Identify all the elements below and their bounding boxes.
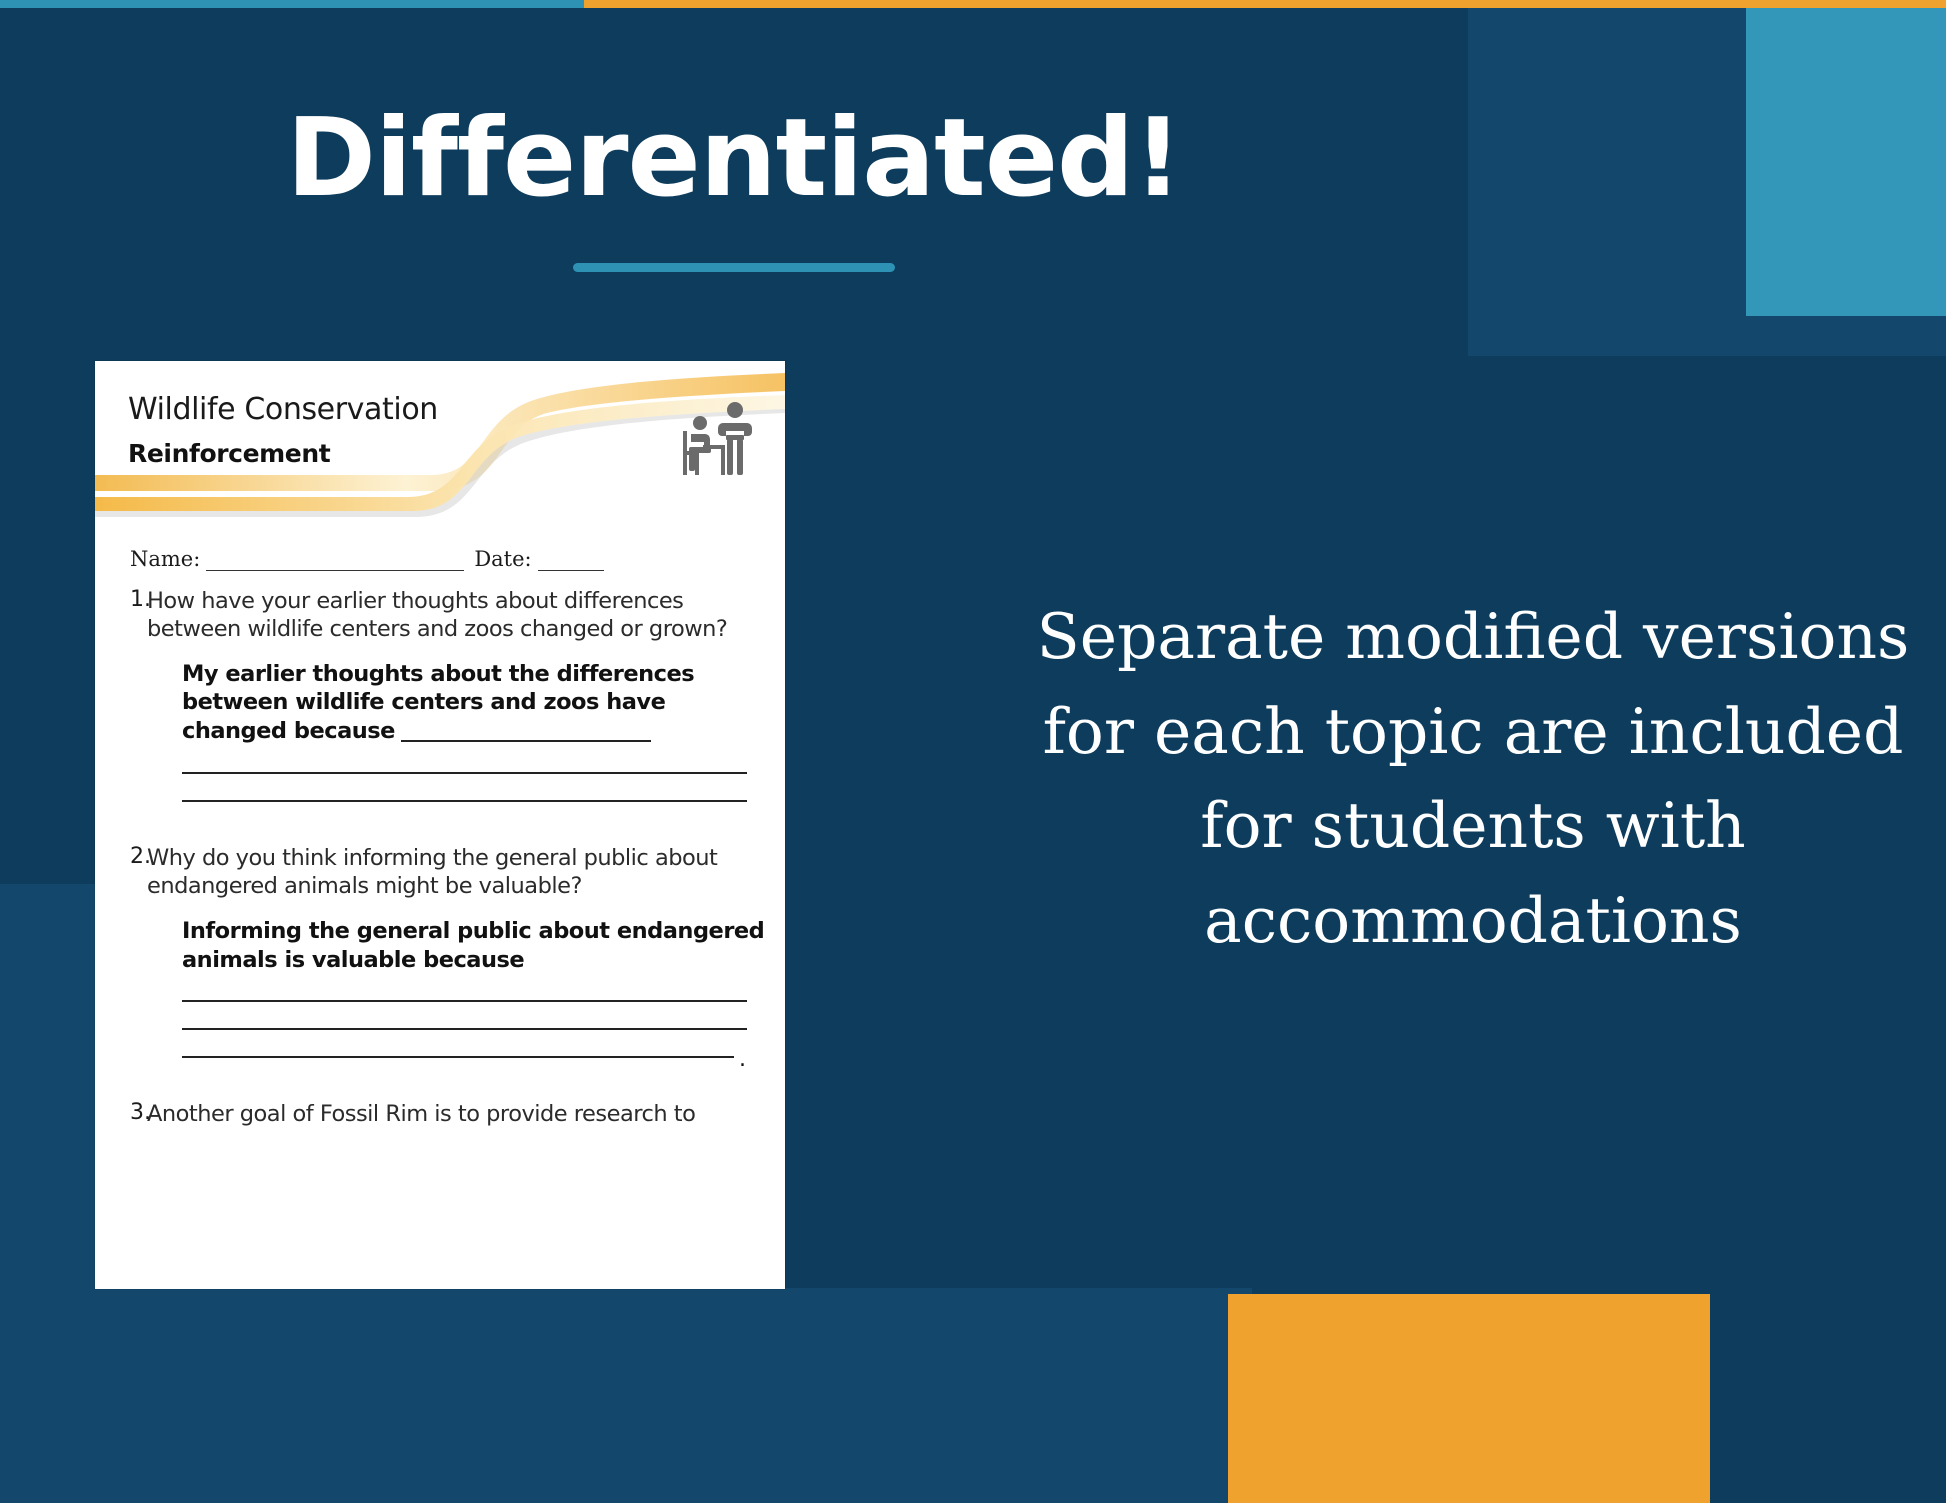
worksheet-preview[interactable]: Wildlife Conservation Reinforcement	[95, 361, 785, 1289]
question-number: 3.	[95, 1100, 147, 1128]
name-date-line: Name: Date:	[130, 547, 750, 571]
date-blank[interactable]	[538, 551, 604, 571]
question-row: 3. Another goal of Fossil Rim is to prov…	[95, 1100, 785, 1128]
name-blank[interactable]	[206, 551, 464, 571]
question-row: 2. Why do you think informing the genera…	[95, 844, 785, 901]
question-number: 1.	[95, 587, 147, 644]
worksheet-header: Wildlife Conservation Reinforcement	[95, 361, 785, 529]
answer-blank[interactable]	[182, 772, 747, 774]
top-stripe-teal	[0, 0, 584, 8]
title-underline-rule	[573, 263, 895, 272]
question-number: 2.	[95, 844, 147, 901]
answer-blank[interactable]	[182, 1028, 747, 1030]
page-title: Differentiated!	[0, 100, 1468, 219]
spacer	[95, 1058, 785, 1096]
answer-stem: Informing the general public about endan…	[182, 917, 785, 975]
top-stripe-orange	[584, 0, 1946, 8]
student-and-teacher-icon	[677, 401, 759, 477]
answer-stem: My earlier thoughts about the difference…	[182, 660, 785, 746]
date-label: Date:	[474, 547, 531, 571]
worksheet-questions: 1. How have your earlier thoughts about …	[95, 583, 785, 1129]
spacer	[95, 802, 785, 840]
decor-panel-top-right-teal	[1746, 8, 1946, 316]
decor-panel-bottom-orange	[1228, 1294, 1710, 1503]
worksheet-subtitle: Reinforcement	[128, 439, 330, 468]
question-prompt: Why do you think informing the general p…	[147, 844, 785, 901]
answer-blank[interactable]	[182, 1000, 747, 1002]
body-copy: Separate modified versions for each topi…	[1030, 590, 1916, 968]
name-label: Name:	[130, 547, 200, 571]
answer-blank[interactable]	[182, 1056, 734, 1058]
question-row: 1. How have your earlier thoughts about …	[95, 587, 785, 644]
question-prompt: How have your earlier thoughts about dif…	[147, 587, 785, 644]
question-prompt: Another goal of Fossil Rim is to provide…	[147, 1100, 785, 1128]
answer-blank[interactable]	[401, 740, 651, 742]
decor-panel-bottom-navy	[620, 1288, 1252, 1503]
answer-stem-text: My earlier thoughts about the difference…	[182, 661, 694, 745]
worksheet-title: Wildlife Conservation	[128, 392, 438, 427]
title-block: Differentiated!	[0, 100, 1468, 272]
